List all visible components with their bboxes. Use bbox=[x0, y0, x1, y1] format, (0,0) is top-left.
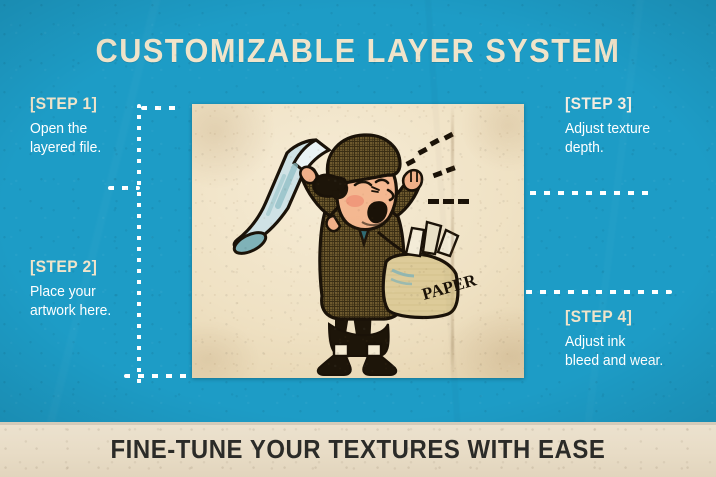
page-title: CUSTOMIZABLE LAYER SYSTEM bbox=[25, 32, 691, 70]
step-2-label: [STEP 2] bbox=[30, 258, 110, 277]
step-callout-3: [STEP 3] Adjust texture depth. bbox=[565, 95, 654, 158]
step-1-label: [STEP 1] bbox=[30, 95, 100, 114]
guide-line-vertical-left bbox=[137, 104, 141, 384]
step-callout-2: [STEP 2] Place your artwork here. bbox=[30, 258, 115, 321]
step-2-text: Place your artwork here. bbox=[30, 283, 111, 321]
poster-canvas: CUSTOMIZABLE LAYER SYSTEM [STEP 1] Open … bbox=[0, 0, 716, 477]
step-3-text: Adjust texture depth. bbox=[565, 120, 650, 158]
banner-top-edge bbox=[0, 422, 716, 425]
guide-line-bottom-branch bbox=[124, 374, 202, 378]
guide-line-mid-branch bbox=[108, 186, 140, 190]
guide-line-top-branch bbox=[141, 106, 177, 110]
step-3-label: [STEP 3] bbox=[565, 95, 649, 114]
step-4-text: Adjust ink bleed and wear. bbox=[565, 333, 663, 371]
guide-line-right-upper bbox=[516, 191, 652, 195]
newsboy-illustration: PAPER bbox=[192, 104, 524, 378]
bottom-banner: FINE-TUNE YOUR TEXTURES WITH EASE bbox=[0, 422, 716, 477]
step-callout-4: [STEP 4] Adjust ink bleed and wear. bbox=[565, 308, 667, 371]
step-1-text: Open the layered file. bbox=[30, 120, 101, 158]
step-callout-1: [STEP 1] Open the layered file. bbox=[30, 95, 104, 158]
guide-line-right-lower bbox=[512, 290, 672, 294]
artwork-placeholder[interactable]: PAPER bbox=[192, 104, 524, 378]
step-4-label: [STEP 4] bbox=[565, 308, 662, 327]
banner-tagline: FINE-TUNE YOUR TEXTURES WITH EASE bbox=[111, 434, 606, 465]
